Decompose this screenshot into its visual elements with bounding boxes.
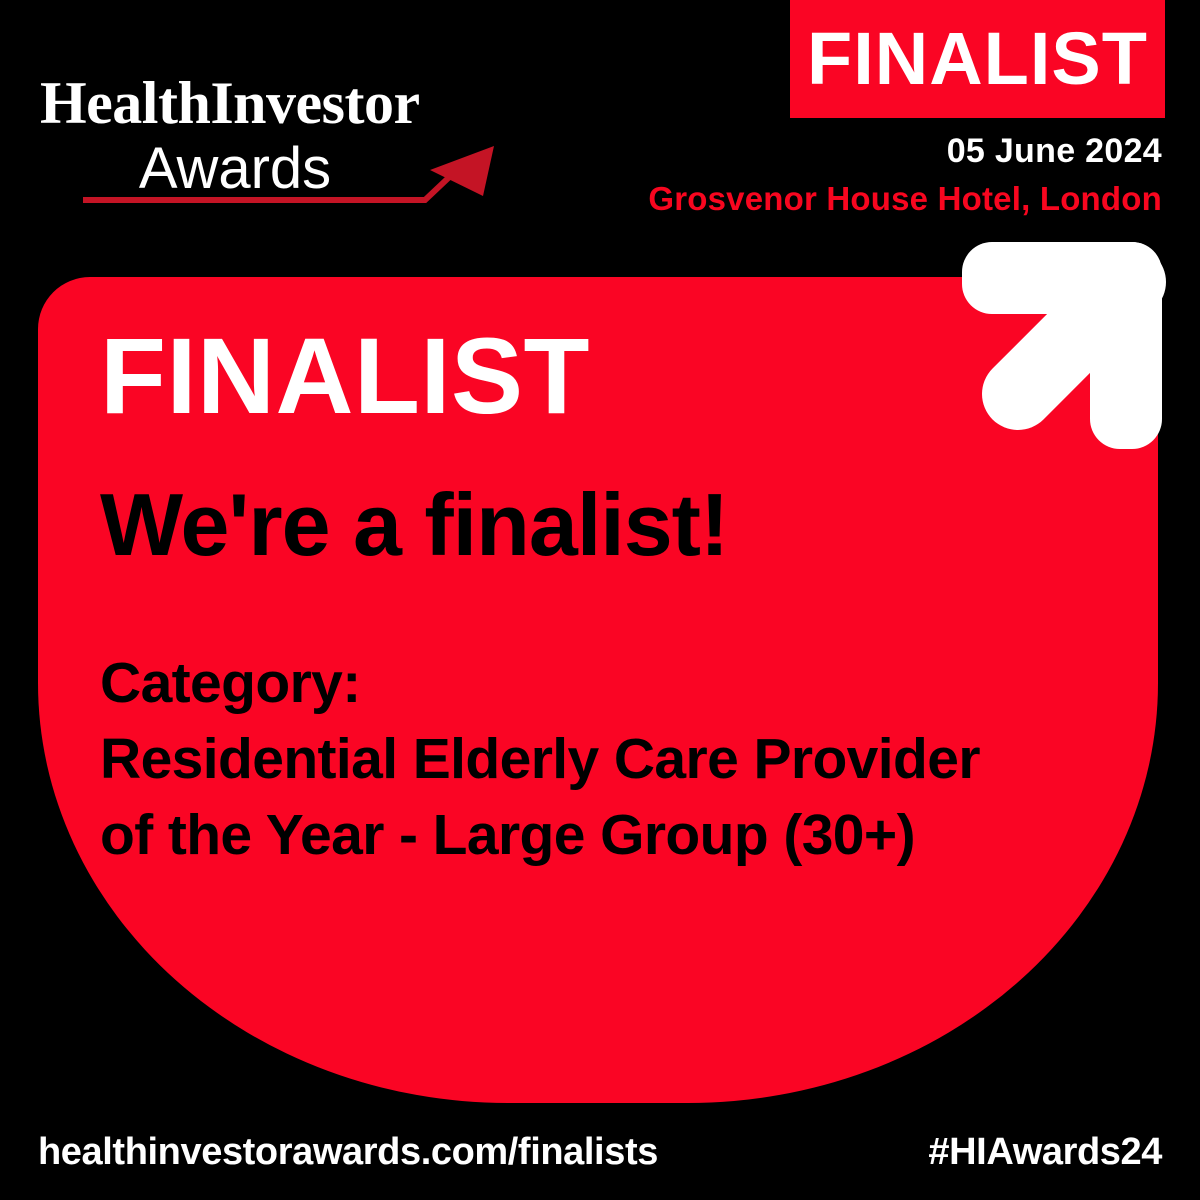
status-badge-label: FINALIST: [807, 22, 1148, 96]
footer-url[interactable]: healthinvestorawards.com/finalists: [38, 1130, 658, 1174]
growth-arrow-icon: [39, 130, 509, 220]
arrow-up-right-icon: [958, 238, 1168, 453]
category-label: Category:: [100, 645, 1118, 721]
event-venue: Grosvenor House Hotel, London: [648, 180, 1162, 218]
finalist-poster: HealthInvestor Awards FINALIST 05 June 2…: [0, 0, 1200, 1200]
healthinvestor-awards-logo: HealthInvestor Awards: [40, 72, 490, 212]
card-subheading: We're a finalist!: [100, 477, 1118, 573]
footer-hashtag: #HIAwards24: [928, 1130, 1162, 1174]
status-badge: FINALIST: [790, 0, 1165, 118]
card-category-block: Category: Residential Elderly Care Provi…: [100, 645, 1118, 873]
category-line-1: Residential Elderly Care Provider: [100, 721, 1118, 797]
category-line-2: of the Year - Large Group (30+): [100, 797, 1118, 873]
event-date: 05 June 2024: [947, 132, 1162, 170]
logo-wordmark-healthinvestor: HealthInvestor: [40, 72, 490, 134]
